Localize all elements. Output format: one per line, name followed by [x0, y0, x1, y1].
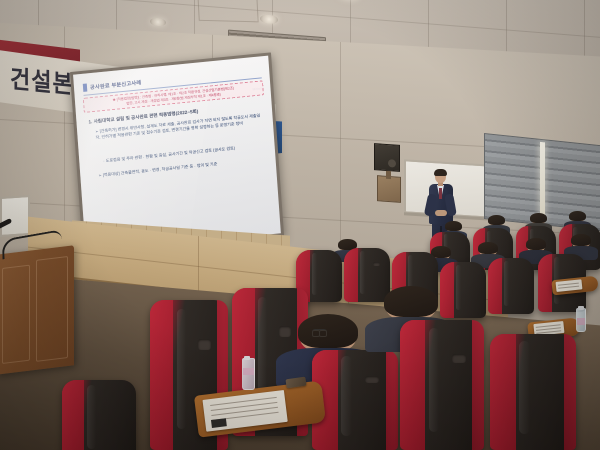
wall-mounted-speaker: [374, 143, 400, 172]
seat-highlight: [519, 341, 529, 434]
qr-code-icon: [211, 418, 227, 428]
attendee-hair: [488, 215, 504, 225]
podium-panel-right: [36, 256, 68, 362]
seat-red-rim-right: [564, 334, 576, 450]
seat-handle: [198, 339, 210, 350]
seat-mid-5[interactable]: [488, 258, 534, 314]
seat-front-4[interactable]: [400, 320, 484, 450]
seat-red-rim: [488, 258, 502, 314]
attendee-hair: [478, 242, 497, 254]
seat-handle: [452, 354, 465, 363]
attendee-hair: [571, 234, 590, 246]
presenter-hair: [434, 169, 447, 176]
seat-red-rim-right: [386, 350, 398, 450]
attendee-hair: [530, 213, 546, 223]
seat-highlight: [312, 253, 318, 295]
seat-mid-4[interactable]: [440, 262, 486, 318]
seat-highlight: [341, 356, 351, 436]
seat-highlight: [456, 265, 462, 310]
seat-red-rim: [440, 262, 454, 318]
ceiling-access-panel: [197, 0, 258, 22]
handout-paper[interactable]: [556, 279, 583, 292]
seat-front-3[interactable]: [312, 350, 398, 450]
presenter-tie: [439, 188, 442, 199]
bottle-label: [577, 318, 585, 325]
handout-paper-front[interactable]: [202, 390, 287, 432]
seat-front-5[interactable]: [490, 334, 576, 450]
attendee-mid-5: [572, 236, 590, 255]
attendee-hair: [445, 221, 461, 231]
seat-highlight: [504, 261, 510, 306]
seat-red-rim-right: [472, 320, 484, 450]
presenter-hands: [435, 210, 447, 216]
attendee-hair: [298, 314, 358, 349]
seat-red-rim: [538, 254, 552, 312]
seat-front-edge-left[interactable]: [62, 380, 136, 450]
seat-red-rim: [490, 334, 516, 450]
water-bottle-front[interactable]: [242, 358, 255, 390]
seat-red-rim: [344, 248, 358, 302]
seat-highlight: [429, 328, 439, 432]
bottle-label: [243, 368, 254, 375]
paper-line: [558, 286, 579, 289]
auditorium-lecture-photo: 로고 건설본 교육 공사완료 부분신고사례 Ministry ★ [적용법령(법…: [0, 0, 600, 450]
seat-mid-2[interactable]: [344, 248, 390, 302]
bottle-cap: [578, 306, 584, 310]
banner-left-text: 건설본: [10, 59, 74, 101]
water-bottle-right-1[interactable]: [576, 308, 586, 332]
seat-red-rim: [400, 320, 425, 450]
seat-red-rim: [62, 380, 84, 450]
wooden-podium: [0, 245, 74, 375]
seat-handle: [279, 326, 291, 336]
paper-line: [210, 397, 277, 406]
wall-cabinet: [377, 175, 401, 203]
seat-handle: [365, 376, 379, 383]
seat-highlight: [360, 251, 366, 294]
attendee-hair: [526, 238, 545, 250]
slide-title-bullet-icon: [83, 83, 88, 91]
bottle-cap: [244, 356, 250, 360]
whiteboard-secondary: [0, 195, 30, 237]
attendee-hair: [569, 211, 585, 221]
podium-panel-left: [2, 265, 30, 364]
seat-highlight: [87, 385, 96, 449]
seat-highlight: [177, 309, 186, 429]
seat-handle: [373, 262, 380, 266]
window-light-gap: [540, 142, 545, 223]
seat-red-rim: [150, 300, 173, 450]
attendee-hair: [384, 286, 438, 317]
eyeglasses-icon: [312, 329, 327, 335]
